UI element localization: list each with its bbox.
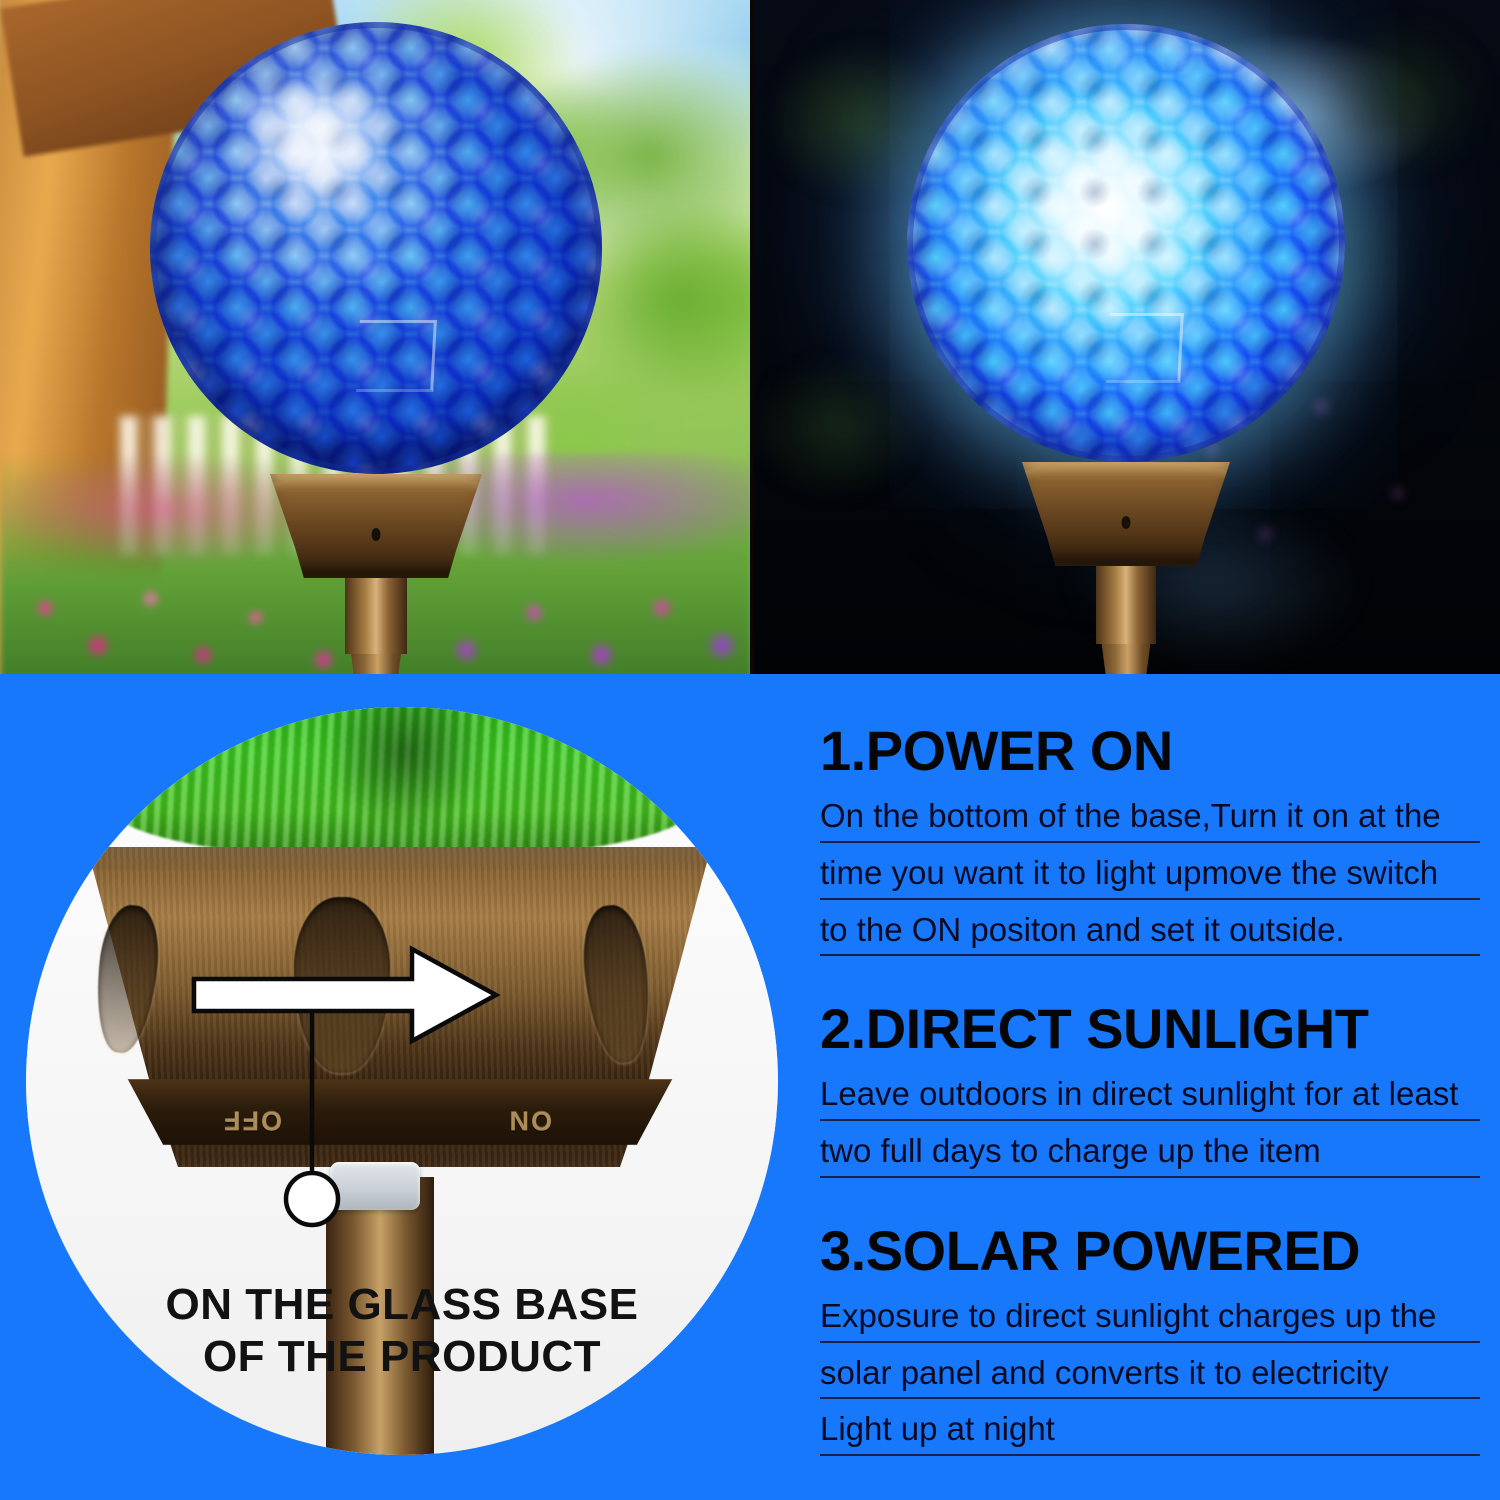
step-1-line-1: On the bottom of the base,Turn it on at … <box>820 793 1480 843</box>
step-power-on: 1.POWER ON On the bottom of the base,Tur… <box>820 722 1480 956</box>
step-1-title: 1.POWER ON <box>820 722 1480 781</box>
globe-lamp-night <box>907 24 1345 674</box>
step-1-body: On the bottom of the base,Turn it on at … <box>820 793 1480 957</box>
base-lip <box>1014 462 1239 478</box>
product-infographic: ON OFF ON THE GLASS BASE OF THE PRODUCT <box>0 0 1500 1500</box>
step-3-body: Exposure to direct sunlight charges up t… <box>820 1293 1480 1457</box>
switch-closeup-circle: ON OFF ON THE GLASS BASE OF THE PRODUCT <box>26 707 778 1455</box>
photo-strip <box>0 0 1500 674</box>
step-2-line-2: two full days to charge up the item <box>820 1128 1480 1178</box>
off-label: OFF <box>222 1106 282 1137</box>
steps-list: 1.POWER ON On the bottom of the base,Tur… <box>820 722 1480 1478</box>
step-3-line-2: solar panel and converts it to electrici… <box>820 1350 1480 1400</box>
photo-divider <box>750 0 754 674</box>
step-1-line-3: to the ON positon and set it outside. <box>820 907 1480 957</box>
step-1-line-2: time you want it to light upmove the swi… <box>820 850 1480 900</box>
step-3-title: 3.SOLAR POWERED <box>820 1222 1480 1281</box>
stake-stem-tip <box>337 654 415 674</box>
glass-globe <box>150 22 602 474</box>
step-2-line-1: Leave outdoors in direct sunlight for at… <box>820 1071 1480 1121</box>
base-lip <box>262 474 491 490</box>
step-2-body: Leave outdoors in direct sunlight for at… <box>820 1071 1480 1178</box>
green-glass-shadow <box>326 707 486 831</box>
glass-globe-lit <box>907 24 1345 462</box>
step-solar-powered: 3.SOLAR POWERED Exposure to direct sunli… <box>820 1222 1480 1456</box>
power-switch-housing[interactable] <box>330 1162 420 1210</box>
globe-rim <box>150 22 602 474</box>
stake-stem <box>345 578 407 654</box>
base-hole <box>1122 516 1131 529</box>
off-on-embossed-labels: ON OFF <box>222 1097 552 1145</box>
nighttime-illuminated-photo <box>752 0 1500 674</box>
caption-line-2: OF THE PRODUCT <box>26 1331 778 1383</box>
bronze-base <box>270 474 482 578</box>
instructions-panel: ON OFF ON THE GLASS BASE OF THE PRODUCT <box>0 674 1500 1500</box>
bronze-base <box>1022 462 1230 566</box>
step-direct-sunlight: 2.DIRECT SUNLIGHT Leave outdoors in dire… <box>820 1000 1480 1178</box>
base-hole <box>372 528 381 541</box>
stake-stem-tip <box>1088 644 1164 674</box>
globe-lamp-day <box>150 22 602 674</box>
globe-rim <box>907 24 1345 462</box>
daytime-garden-photo <box>0 0 752 674</box>
step-3-line-3: Light up at night <box>820 1406 1480 1456</box>
caption-line-1: ON THE GLASS BASE <box>26 1279 778 1331</box>
step-2-title: 2.DIRECT SUNLIGHT <box>820 1000 1480 1059</box>
closeup-caption: ON THE GLASS BASE OF THE PRODUCT <box>26 1279 778 1383</box>
step-3-line-1: Exposure to direct sunlight charges up t… <box>820 1293 1480 1343</box>
on-label: ON <box>508 1106 553 1137</box>
stake-stem <box>1096 566 1156 644</box>
